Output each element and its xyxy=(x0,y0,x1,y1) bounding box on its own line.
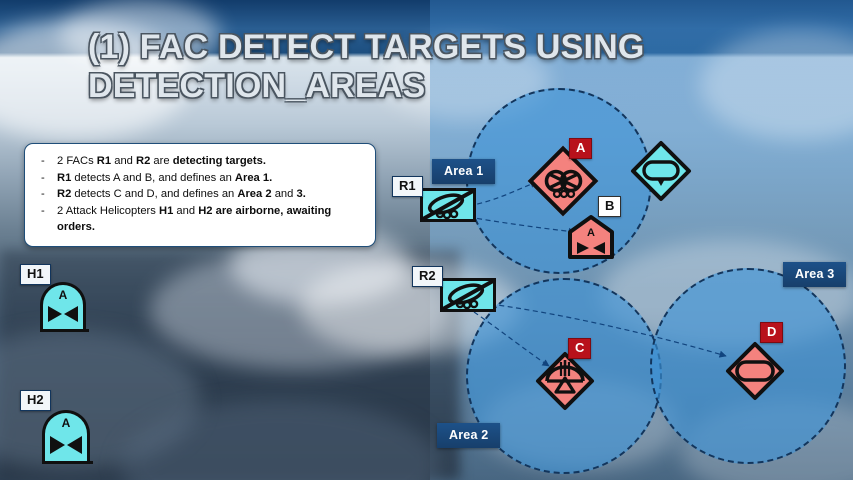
bullet-marker: - xyxy=(35,153,57,170)
info-callout-box: -2 FACs R1 and R2 are detecting targets.… xyxy=(24,143,376,247)
target-label-d[interactable]: D xyxy=(760,322,783,343)
svg-text:A: A xyxy=(587,227,595,239)
hostile-pentagon-frame: A xyxy=(567,214,615,260)
unit-marker-h1[interactable]: A H1 xyxy=(20,264,110,334)
bullet-item: -R2 detects C and D, and defines an Area… xyxy=(35,186,363,203)
target-label-a[interactable]: A xyxy=(569,138,592,159)
target-label-b[interactable]: B xyxy=(598,196,621,217)
slide-canvas: (1) FAC DETECT TARGETS USING DETECTION_A… xyxy=(0,0,853,480)
attack-helicopter-icon xyxy=(40,282,86,332)
bullet-marker: - xyxy=(35,186,57,203)
bullet-text: 2 FACs R1 and R2 are detecting targets. xyxy=(57,153,363,170)
unit-marker-target-c[interactable]: C xyxy=(528,338,620,412)
bullet-text: R2 detects C and D, and defines an Area … xyxy=(57,186,363,203)
unit-marker-target-d[interactable]: D xyxy=(716,322,808,398)
unit-marker-r1[interactable]: R1 xyxy=(392,176,492,236)
bullet-item: -R1 detects A and B, and defines an Area… xyxy=(35,170,363,187)
neutral-bubble-icon xyxy=(630,140,692,202)
bullet-list: -2 FACs R1 and R2 are detecting targets.… xyxy=(35,153,363,236)
target-label-c[interactable]: C xyxy=(568,338,591,359)
bullet-marker: - xyxy=(35,170,57,187)
bullet-text: 2 Attack Helicopters H1 and H2 are airbo… xyxy=(57,203,363,236)
bullet-item: -2 FACs R1 and R2 are detecting targets. xyxy=(35,153,363,170)
unit-label-h1[interactable]: H1 xyxy=(20,264,51,285)
bullet-item: -2 Attack Helicopters H1 and H2 are airb… xyxy=(35,203,363,236)
unit-label-r1[interactable]: R1 xyxy=(392,176,423,197)
forward-air-controller-icon xyxy=(420,188,476,222)
unit-marker-neutral-1[interactable] xyxy=(630,140,692,202)
bullet-text: R1 detects A and B, and defines an Area … xyxy=(57,170,363,187)
unit-label-h2[interactable]: H2 xyxy=(20,390,51,411)
unit-marker-h2[interactable]: A H2 xyxy=(20,390,110,465)
forward-air-controller-icon xyxy=(440,278,496,312)
attack-helicopter-icon xyxy=(42,410,90,464)
area-2-label[interactable]: Area 2 xyxy=(437,423,500,448)
unit-marker-r2[interactable]: R2 xyxy=(412,266,512,326)
hostile-capsule-icon xyxy=(722,338,788,404)
unit-label-r2[interactable]: R2 xyxy=(412,266,443,287)
bullet-marker: - xyxy=(35,203,57,236)
unit-marker-target-b[interactable]: A B xyxy=(565,196,655,262)
area-3-label[interactable]: Area 3 xyxy=(783,262,846,287)
